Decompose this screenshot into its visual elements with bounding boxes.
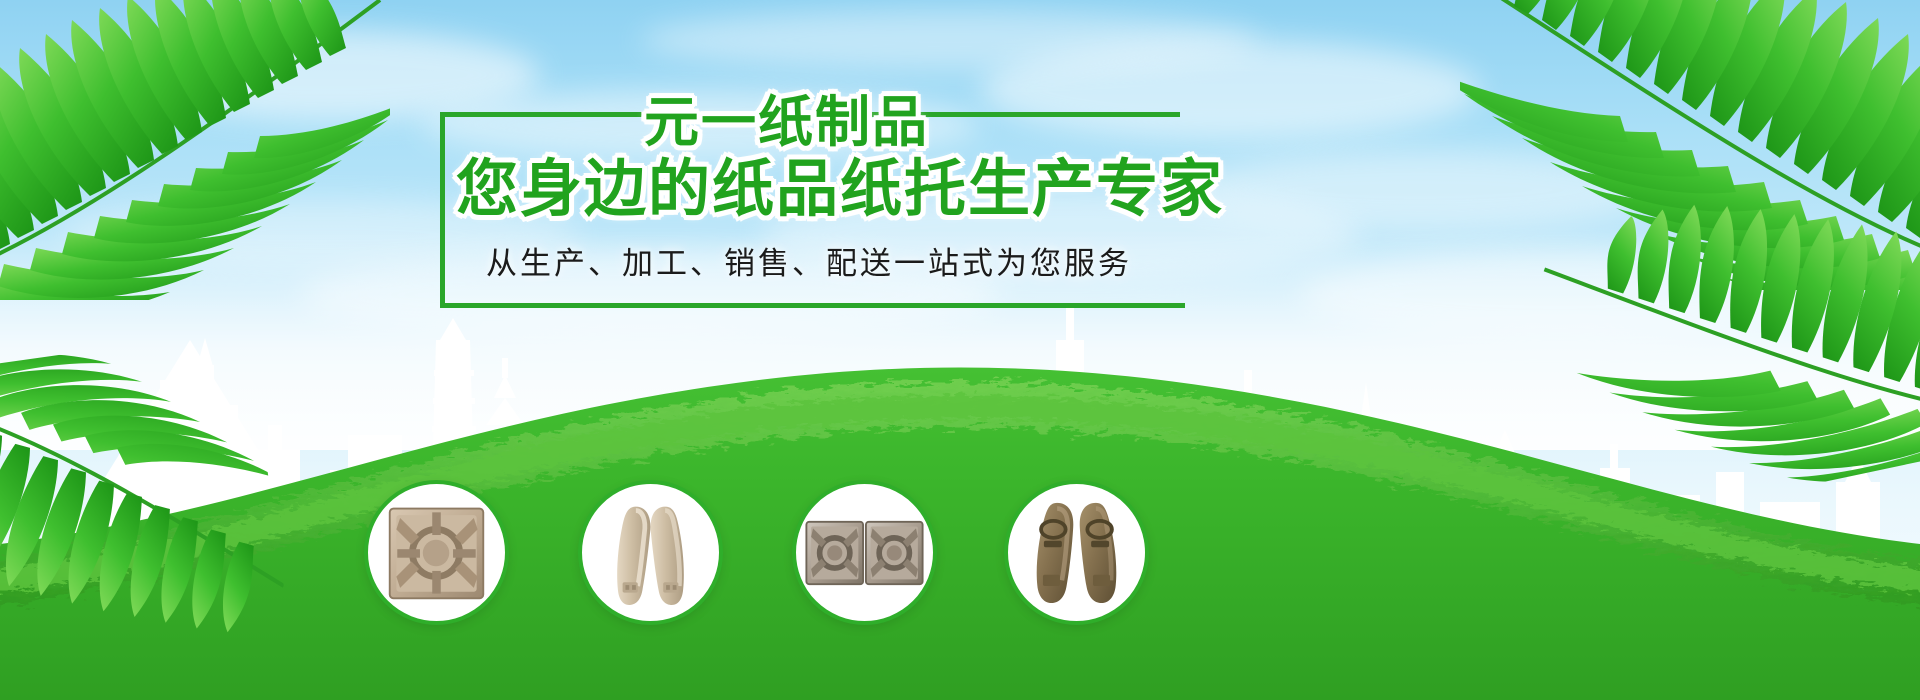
product-circle-1[interactable]	[364, 480, 509, 625]
product-circle-3[interactable]	[792, 480, 937, 625]
paper-pulp-tray-double-icon	[796, 484, 933, 621]
headline-block: 元一纸制品 您身边的纸品纸托生产专家	[560, 92, 1280, 224]
product-circle-4[interactable]	[1004, 480, 1149, 625]
headline-line-1: 元一纸制品	[644, 92, 1280, 152]
palm-leaf-icon	[0, 0, 390, 300]
cloud-icon	[640, 10, 1260, 70]
product-showcase	[0, 440, 1920, 700]
headline-line-2: 您身边的纸品纸托生产专家	[456, 154, 1280, 224]
paper-pulp-shoe-inserts-icon	[1008, 484, 1145, 621]
paper-pulp-tray-square-icon	[368, 484, 505, 621]
paper-pulp-shoe-tree-pair-icon	[582, 484, 719, 621]
subtitle: 从生产、加工、销售、配送一站式为您服务	[486, 238, 1132, 283]
promo-banner: 元一纸制品 您身边的纸品纸托生产专家 从生产、加工、销售、配送一站式为您服务	[0, 0, 1920, 700]
product-circle-2[interactable]	[578, 480, 723, 625]
